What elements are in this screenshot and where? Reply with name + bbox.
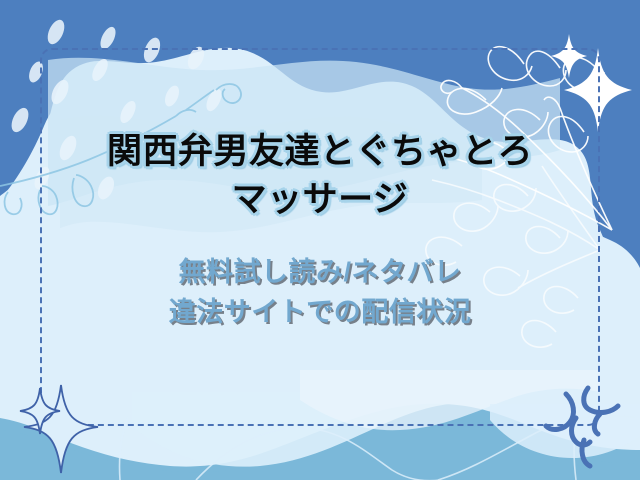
dashed-border-frame bbox=[40, 48, 600, 426]
sparkle-outline-large-icon bbox=[24, 385, 98, 473]
subtitle-line-1: 無料試し読み/ネタバレ bbox=[40, 252, 600, 292]
sparkles-bottom-left bbox=[0, 0, 640, 480]
sparkles-top-right bbox=[0, 0, 640, 480]
title-line-1: 関西弁男友達とぐちゃとろ bbox=[40, 128, 600, 176]
bottom-curve-lines bbox=[0, 0, 640, 480]
botanical-left-vine bbox=[0, 0, 640, 480]
text-content-stack: 関西弁男友達とぐちゃとろ マッサージ 無料試し読み/ネタバレ 違法サイトでの配信… bbox=[0, 0, 640, 480]
bottom-pale-blobs bbox=[0, 0, 640, 480]
background-base-layer bbox=[0, 0, 640, 480]
sparkle-large-icon bbox=[564, 48, 632, 132]
falling-petal-ovals bbox=[0, 0, 640, 480]
page-subtitle: 無料試し読み/ネタバレ 違法サイトでの配信状況 bbox=[40, 252, 600, 332]
botanical-inner-right-branch bbox=[0, 0, 640, 480]
subtitle-line-2: 違法サイトでの配信状況 bbox=[40, 292, 600, 332]
page-title: 関西弁男友達とぐちゃとろ マッサージ bbox=[40, 128, 600, 224]
bottom-wave-shape bbox=[0, 0, 640, 480]
soft-card-panel bbox=[0, 0, 640, 480]
thumbnail-canvas: 関西弁男友達とぐちゃとろ マッサージ 無料試し読み/ネタバレ 違法サイトでの配信… bbox=[0, 0, 640, 480]
decorative-curl-squiggle bbox=[0, 0, 640, 480]
pale-cloud-overlay bbox=[0, 0, 640, 480]
sparkle-small-icon bbox=[551, 34, 587, 78]
top-wave-shape bbox=[0, 0, 640, 480]
botanical-top-right-branch bbox=[0, 0, 640, 480]
title-line-2: マッサージ bbox=[40, 176, 600, 224]
sparkle-outline-small-icon bbox=[20, 388, 60, 434]
